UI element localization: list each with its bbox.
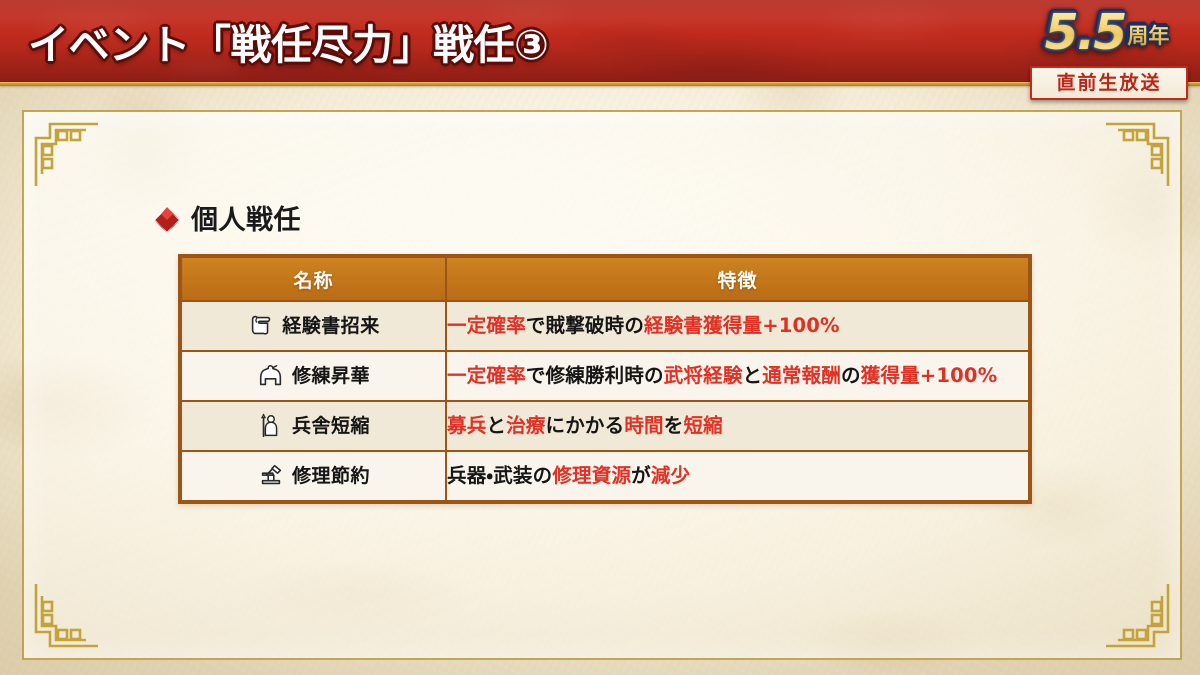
anniversary-unit-label: 周年 bbox=[1127, 20, 1169, 50]
hammer-anvil-icon bbox=[257, 462, 285, 490]
feature-plain: が bbox=[631, 464, 651, 487]
table-body: 経験書招来一定確率で賊撃破時の経験書獲得量+100%修練昇華一定確率で修練勝利時… bbox=[181, 301, 1029, 501]
mission-feature-text: 兵器・武装の修理資源が減少 bbox=[447, 465, 1028, 486]
scroll-book-icon bbox=[247, 312, 275, 340]
anniversary-number: 5.5 bbox=[1045, 4, 1126, 61]
page-title: イベント「戦任尽力」戦任③ bbox=[28, 11, 548, 71]
feature-highlight: 通常報酬 bbox=[762, 364, 841, 387]
mission-name-label: 修理節約 bbox=[292, 467, 370, 486]
mission-feature-text: 一定確率で賊撃破時の経験書獲得量+100% bbox=[447, 315, 1028, 336]
feature-highlight: 一定確率 bbox=[447, 364, 526, 387]
training-armor-icon bbox=[257, 362, 285, 390]
table-row: 修練昇華一定確率で修練勝利時の武将経験と通常報酬の獲得量+100% bbox=[181, 351, 1029, 401]
cell-mission-feature: 一定確率で修練勝利時の武将経験と通常報酬の獲得量+100% bbox=[446, 351, 1029, 401]
cell-mission-feature: 募兵と治療にかかる時間を短縮 bbox=[446, 401, 1029, 451]
section-heading: 個人戦任 bbox=[152, 205, 301, 235]
broadcast-badge: 直前生放送 bbox=[1030, 66, 1188, 100]
feature-plain: と bbox=[743, 364, 763, 387]
corner-ornament-top-left bbox=[28, 116, 100, 188]
feature-highlight: 武将経験 bbox=[664, 364, 743, 387]
mission-name-group: 修練昇華 bbox=[182, 362, 445, 390]
mission-name-group: 兵舎短縮 bbox=[182, 412, 445, 440]
feature-highlight: 募兵 bbox=[447, 414, 486, 437]
feature-plain: と bbox=[486, 414, 506, 437]
corner-ornament-top-right bbox=[1104, 116, 1176, 188]
feature-highlight: 短縮 bbox=[683, 414, 722, 437]
mission-name-group: 経験書招来 bbox=[182, 312, 445, 340]
feature-highlight: 一定確率 bbox=[447, 314, 526, 337]
mission-feature-text: 一定確率で修練勝利時の武将経験と通常報酬の獲得量+100% bbox=[447, 365, 1028, 386]
cell-mission-name: 兵舎短縮 bbox=[181, 401, 446, 451]
mission-name-label: 修練昇華 bbox=[292, 367, 370, 386]
feature-highlight: 経験書獲得量+100% bbox=[644, 314, 840, 337]
feature-plain: にかかる bbox=[546, 414, 625, 437]
table-row: 修理節約兵器・武装の修理資源が減少 bbox=[181, 451, 1029, 501]
mission-name-label: 経験書招来 bbox=[282, 317, 380, 336]
feature-plain: の bbox=[841, 364, 861, 387]
broadcast-badge-label: 直前生放送 bbox=[1056, 74, 1161, 93]
cell-mission-feature: 兵器・武装の修理資源が減少 bbox=[446, 451, 1029, 501]
feature-plain: 兵器・武装の bbox=[447, 464, 552, 487]
feature-highlight: 時間 bbox=[624, 414, 663, 437]
column-header-name: 名称 bbox=[181, 257, 446, 301]
red-gem-diamond-icon bbox=[152, 205, 182, 235]
feature-highlight: 減少 bbox=[651, 464, 690, 487]
feature-highlight: 獲得量+100% bbox=[861, 364, 998, 387]
soldier-spear-icon bbox=[257, 412, 285, 440]
mission-name-group: 修理節約 bbox=[182, 462, 445, 490]
corner-ornament-bottom-left bbox=[28, 582, 100, 654]
slide-root: イベント「戦任尽力」戦任③ 5.5周年 直前生放送 bbox=[0, 0, 1200, 675]
feature-plain: で賊撃破時の bbox=[526, 314, 644, 337]
cell-mission-name: 修理節約 bbox=[181, 451, 446, 501]
feature-plain: を bbox=[664, 414, 684, 437]
cell-mission-name: 経験書招来 bbox=[181, 301, 446, 351]
mission-name-label: 兵舎短縮 bbox=[292, 417, 370, 436]
table-row: 経験書招来一定確率で賊撃破時の経験書獲得量+100% bbox=[181, 301, 1029, 351]
personal-mission-table: 名称 特徴 経験書招来一定確率で賊撃破時の経験書獲得量+100%修練昇華一定確率… bbox=[178, 254, 1032, 504]
feature-highlight: 修理資源 bbox=[552, 464, 631, 487]
cell-mission-feature: 一定確率で賊撃破時の経験書獲得量+100% bbox=[446, 301, 1029, 351]
anniversary-logo-main: 5.5周年 bbox=[1022, 4, 1192, 61]
table-header-row: 名称 特徴 bbox=[181, 257, 1029, 301]
mission-feature-text: 募兵と治療にかかる時間を短縮 bbox=[447, 415, 1028, 436]
feature-plain: で修練勝利時の bbox=[526, 364, 664, 387]
table-row: 兵舎短縮募兵と治療にかかる時間を短縮 bbox=[181, 401, 1029, 451]
column-header-feature: 特徴 bbox=[446, 257, 1029, 301]
cell-mission-name: 修練昇華 bbox=[181, 351, 446, 401]
feature-highlight: 治療 bbox=[506, 414, 545, 437]
header-gold-divider bbox=[0, 82, 1200, 86]
section-heading-label: 個人戦任 bbox=[191, 207, 301, 234]
corner-ornament-bottom-right bbox=[1104, 582, 1176, 654]
anniversary-logo: 5.5周年 直前生放送 bbox=[1022, 2, 1192, 110]
